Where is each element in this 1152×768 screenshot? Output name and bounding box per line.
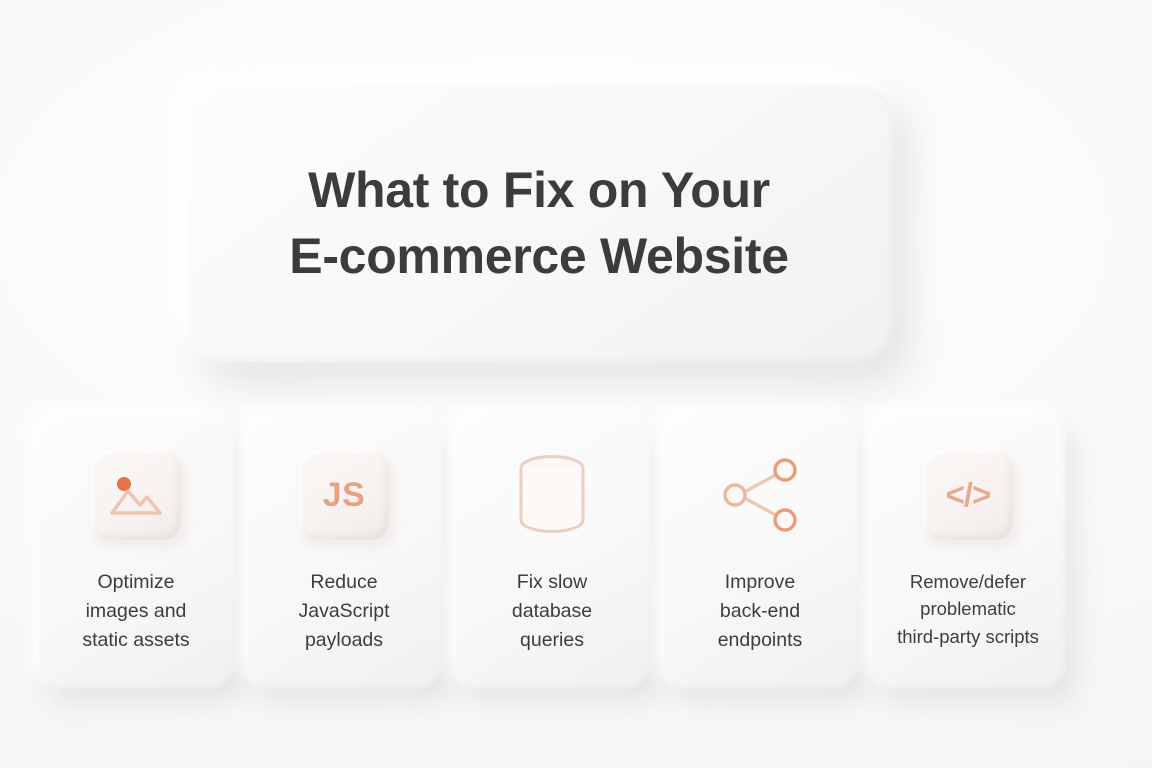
code-brackets-icon: </> (946, 476, 991, 514)
icon-tile (715, 450, 805, 540)
card-label: Optimize images and static assets (76, 568, 195, 655)
icon-tile (507, 450, 597, 540)
javascript-icon: JS (323, 476, 366, 515)
card-improve-endpoints[interactable]: Improve back-end endpoints (662, 416, 858, 688)
image-icon (109, 471, 163, 519)
icon-tile (91, 450, 181, 540)
icon-tile: </> (923, 450, 1013, 540)
card-optimize-images[interactable]: Optimize images and static assets (38, 416, 234, 688)
database-icon (509, 449, 595, 541)
share-nodes-icon (715, 450, 805, 540)
card-label: Reduce JavaScript payloads (292, 568, 395, 655)
fix-items-row: Optimize images and static assets JS Red… (38, 416, 1114, 688)
card-fix-database[interactable]: Fix slow database queries (454, 416, 650, 688)
icon-tile: JS (299, 450, 389, 540)
title-card: What to Fix on Your E-commerce Website (186, 84, 892, 362)
page-title: What to Fix on Your E-commerce Website (261, 157, 816, 290)
card-remove-third-party-scripts[interactable]: </> Remove/defer problematic third-party… (870, 416, 1066, 688)
card-label: Improve back-end endpoints (712, 568, 809, 655)
card-label: Fix slow database queries (506, 568, 598, 655)
card-reduce-javascript[interactable]: JS Reduce JavaScript payloads (246, 416, 442, 688)
card-label: Remove/defer problematic third-party scr… (895, 568, 1041, 650)
